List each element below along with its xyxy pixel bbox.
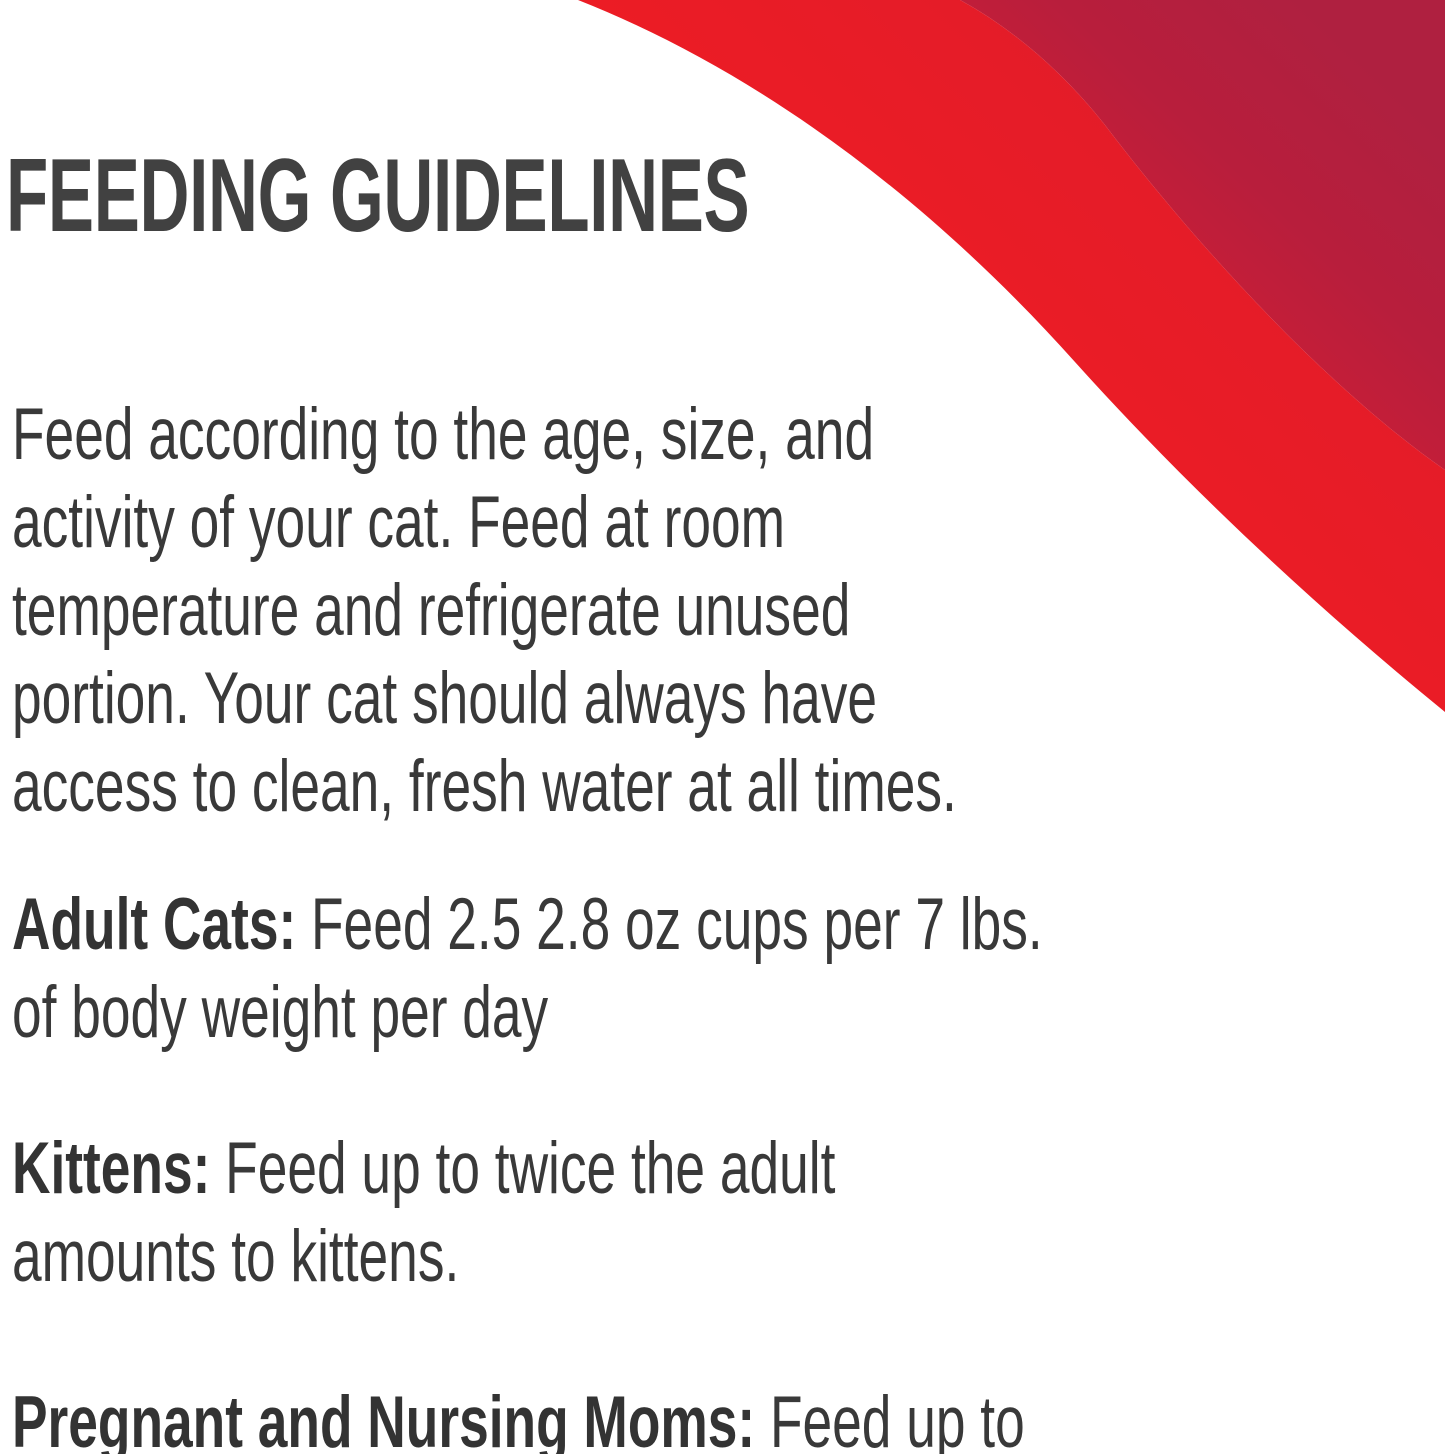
label-text-content: FEEDING GUIDELINES Feed according to the… <box>0 0 1445 1454</box>
pregnant-nursing-moms-section: Pregnant and Nursing Moms: Feed up to 3 … <box>12 1379 1025 1454</box>
intro-line-4: portion. Your cat should always have <box>12 655 957 743</box>
moms-text-1: Feed up to <box>755 1382 1025 1454</box>
moms-line-1: Pregnant and Nursing Moms: Feed up to <box>12 1379 1025 1454</box>
page-title: FEEDING GUIDELINES <box>6 144 749 248</box>
kittens-label: Kittens: <box>12 1128 210 1209</box>
kittens-text-1: Feed up to twice the adult <box>210 1128 835 1209</box>
moms-label: Pregnant and Nursing Moms: <box>12 1382 755 1454</box>
kittens-line-2: amounts to kittens. <box>12 1213 835 1301</box>
adult-cats-line-1: Adult Cats: Feed 2.5 2.8 oz cups per 7 l… <box>12 881 1043 969</box>
adult-cats-section: Adult Cats: Feed 2.5 2.8 oz cups per 7 l… <box>12 881 1043 1057</box>
kittens-section: Kittens: Feed up to twice the adult amou… <box>12 1125 835 1301</box>
feeding-guidelines-label: FEEDING GUIDELINES Feed according to the… <box>0 0 1445 1454</box>
intro-line-5: access to clean, fresh water at all time… <box>12 743 957 831</box>
adult-cats-line-2: of body weight per day <box>12 969 1043 1057</box>
intro-line-3: temperature and refrigerate unused <box>12 567 957 655</box>
intro-line-1: Feed according to the age, size, and <box>12 391 957 479</box>
intro-paragraph: Feed according to the age, size, and act… <box>12 391 957 831</box>
intro-line-2: activity of your cat. Feed at room <box>12 479 957 567</box>
kittens-line-1: Kittens: Feed up to twice the adult <box>12 1125 835 1213</box>
adult-cats-text-1: Feed 2.5 2.8 oz cups per 7 lbs. <box>296 884 1043 965</box>
adult-cats-label: Adult Cats: <box>12 884 296 965</box>
